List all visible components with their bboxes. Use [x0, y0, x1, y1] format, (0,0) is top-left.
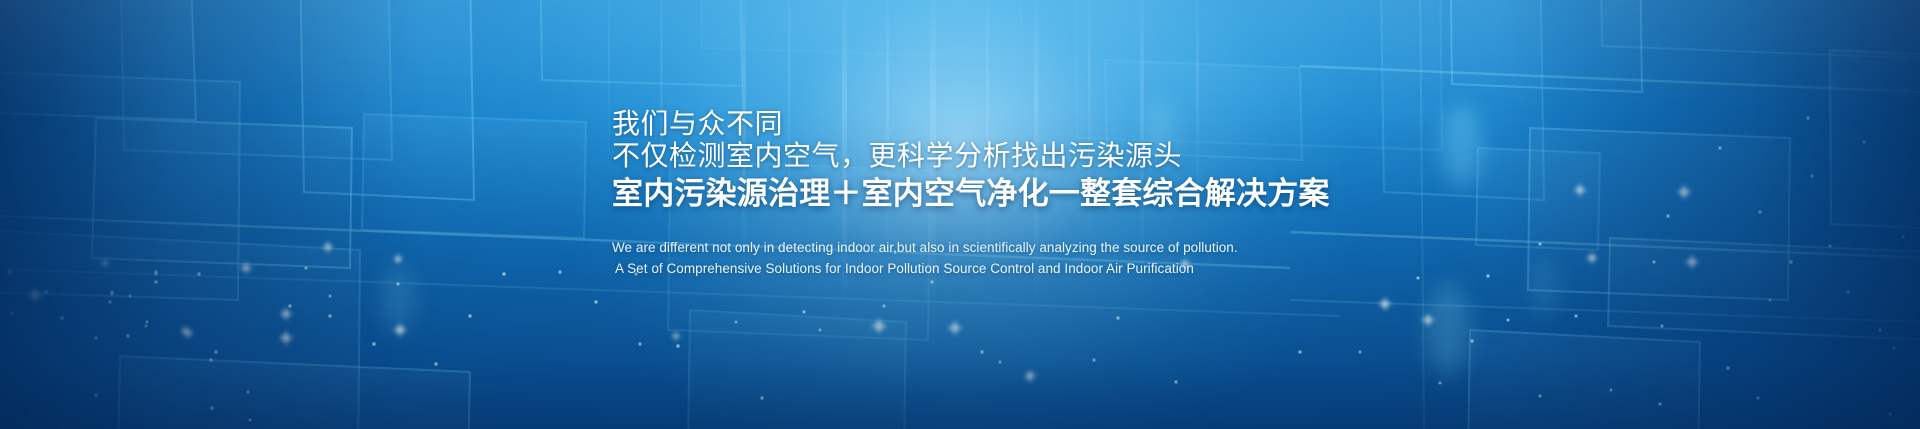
bottom-shade — [0, 0, 1920, 429]
hero-banner: 我们与众不同 不仅检测室内空气，更科学分析找出污染源头 室内污染源治理＋室内空气… — [0, 0, 1920, 429]
